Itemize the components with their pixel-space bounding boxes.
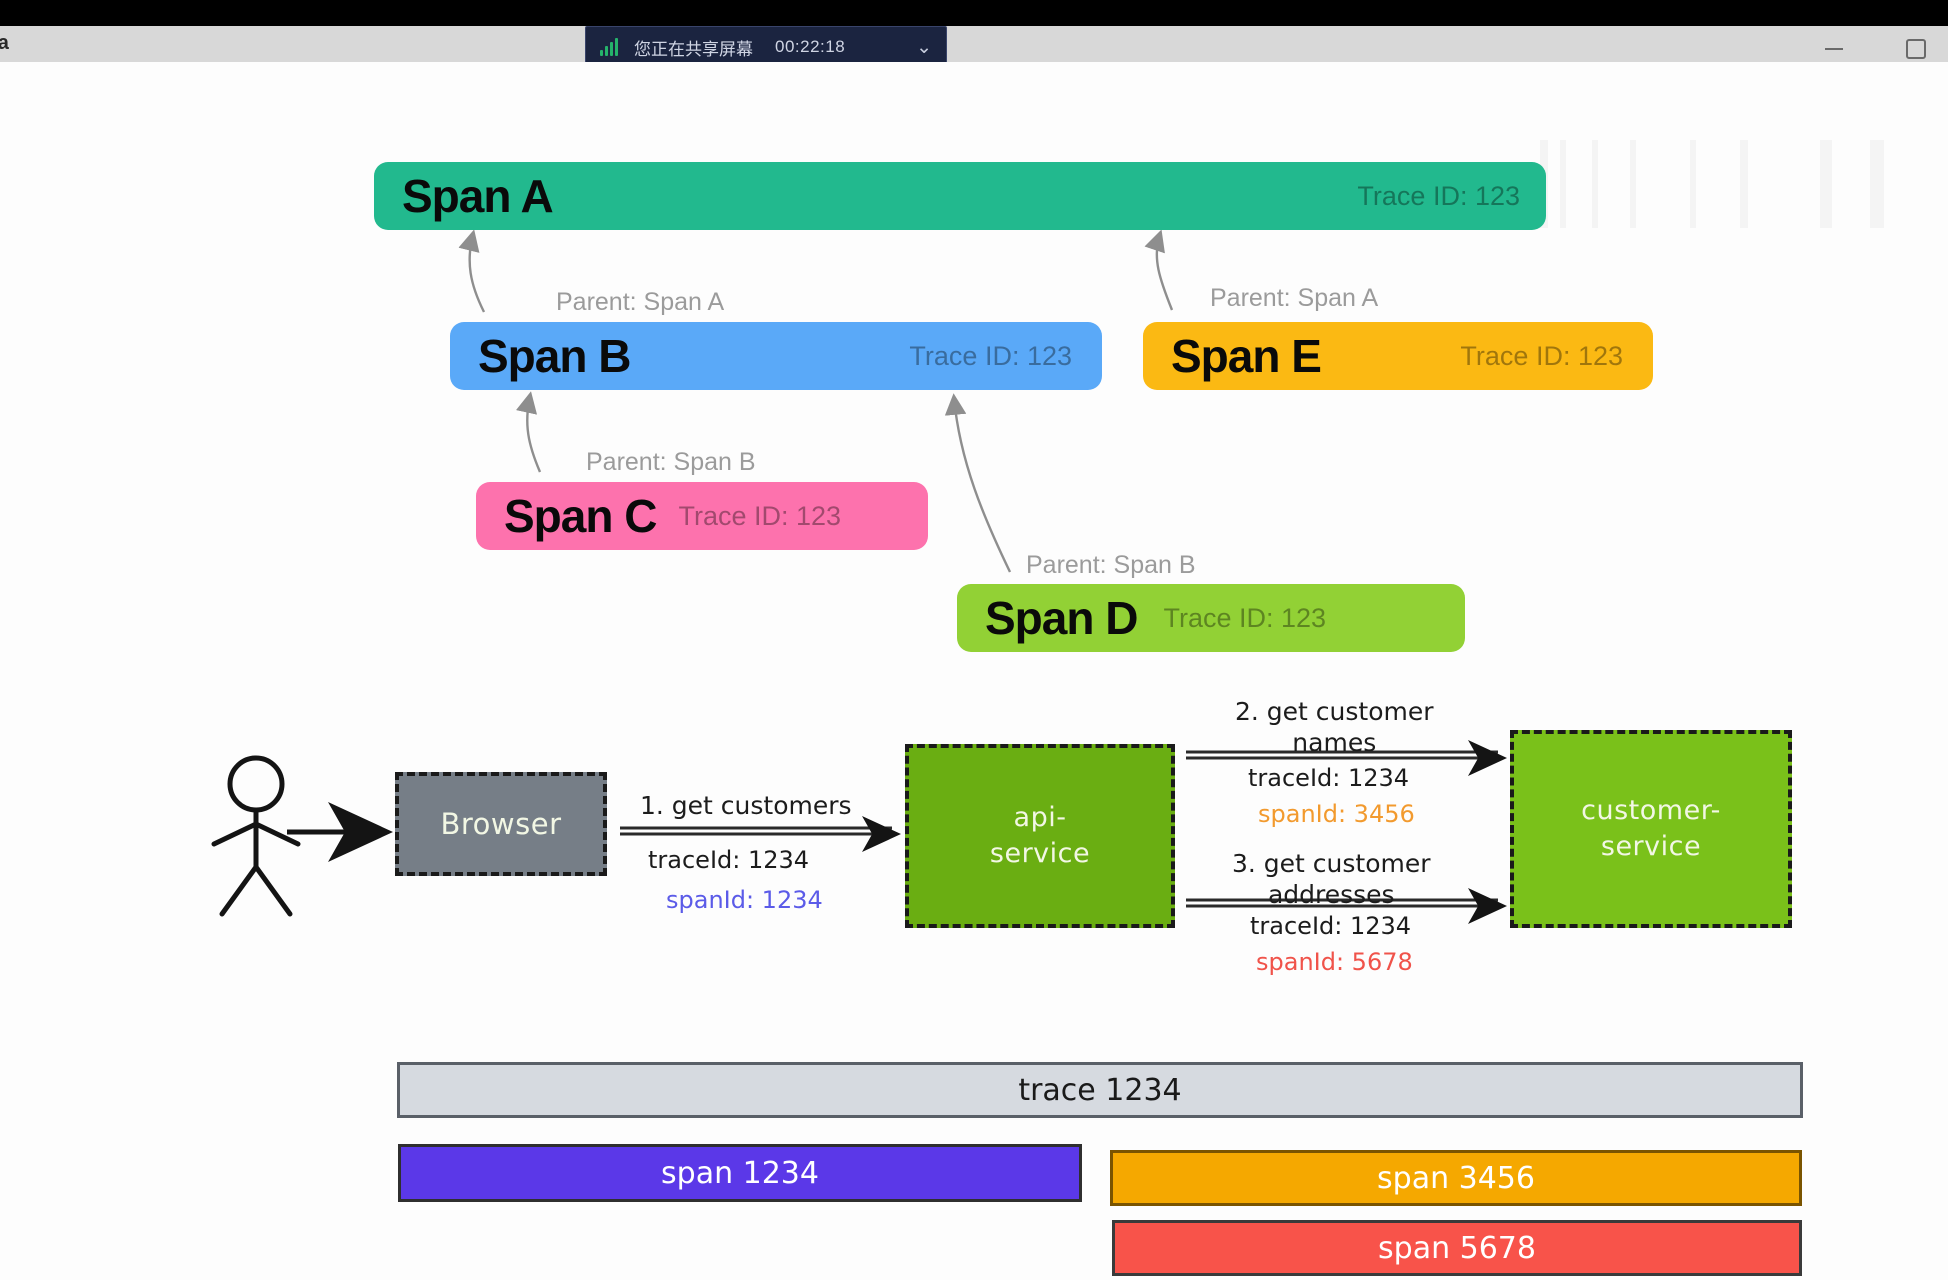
node-api-service: api-service: [905, 744, 1175, 928]
node-api-service-label: api-service: [990, 800, 1090, 871]
span-bar-e: Span E Trace ID: 123: [1143, 322, 1653, 390]
span-c-name: Span C: [504, 493, 656, 539]
node-customer-service: customer-service: [1510, 730, 1792, 928]
background-ghost-watermark: [1540, 140, 1948, 228]
span-a-name: Span A: [402, 173, 553, 219]
flow-1-span-id: spanId: 1234: [666, 886, 823, 914]
flow-2-trace-id: traceId: 1234: [1248, 764, 1409, 792]
minimize-button[interactable]: [1808, 32, 1860, 66]
flow-3-trace-id: traceId: 1234: [1250, 912, 1411, 940]
span-b-parent-label: Parent: Span A: [556, 288, 724, 317]
timeline-bar-trace-1234: trace 1234: [397, 1062, 1803, 1118]
span-a-trace-id: Trace ID: 123: [1357, 181, 1520, 212]
node-browser: Browser: [395, 772, 607, 876]
node-browser-label: Browser: [440, 805, 561, 843]
chevron-down-icon[interactable]: ⌄: [916, 38, 932, 57]
title-bar: ra 帮助(H) 您正在共享屏幕 00:22:18 ⌄: [0, 0, 1948, 62]
span-bar-c: Span C Trace ID: 123: [476, 482, 928, 550]
span-c-parent-label: Parent: Span B: [586, 448, 756, 477]
share-elapsed-time: 00:22:18: [775, 37, 845, 57]
maximize-icon: [1906, 39, 1926, 59]
span-e-parent-label: Parent: Span A: [1210, 284, 1378, 313]
timeline-bar-span-1234: span 1234: [398, 1144, 1082, 1202]
application-window: ra 帮助(H) 您正在共享屏幕 00:22:18 ⌄: [0, 0, 1948, 1280]
timeline-bar-span-5678: span 5678: [1112, 1220, 1802, 1276]
span-bar-b: Span B Trace ID: 123: [450, 322, 1102, 390]
span-d-name: Span D: [985, 595, 1137, 641]
span-e-name: Span E: [1171, 333, 1321, 379]
flow-2-title: 2. get customernames: [1235, 696, 1434, 759]
span-e-trace-id: Trace ID: 123: [1460, 341, 1623, 372]
maximize-button[interactable]: [1890, 32, 1942, 66]
flow-1-trace-id: traceId: 1234: [648, 846, 809, 874]
minimize-icon: [1825, 48, 1843, 50]
span-d-trace-id: Trace ID: 123: [1163, 603, 1326, 634]
span-b-trace-id: Trace ID: 123: [909, 341, 1072, 372]
flow-1-title: 1. get customers: [640, 790, 852, 821]
span-d-parent-label: Parent: Span B: [1026, 551, 1196, 580]
slide-canvas: Span A Trace ID: 123 Parent: Span A Span…: [0, 62, 1948, 1280]
flow-3-title: 3. get customeraddresses: [1232, 848, 1431, 911]
span-bar-d: Span D Trace ID: 123: [957, 584, 1465, 652]
share-status-text: 您正在共享屏幕: [634, 35, 753, 60]
flow-2-span-id: spanId: 3456: [1258, 800, 1415, 828]
node-customer-service-label: customer-service: [1581, 793, 1721, 864]
signal-bars-icon: [600, 38, 618, 56]
app-title: ra: [0, 32, 9, 55]
span-b-name: Span B: [478, 333, 630, 379]
span-c-trace-id: Trace ID: 123: [678, 501, 841, 532]
timeline-bar-span-3456: span 3456: [1110, 1150, 1802, 1206]
title-bar-black-strip: [0, 0, 1948, 26]
flow-3-span-id: spanId: 5678: [1256, 948, 1413, 976]
span-bar-a: Span A Trace ID: 123: [374, 162, 1546, 230]
